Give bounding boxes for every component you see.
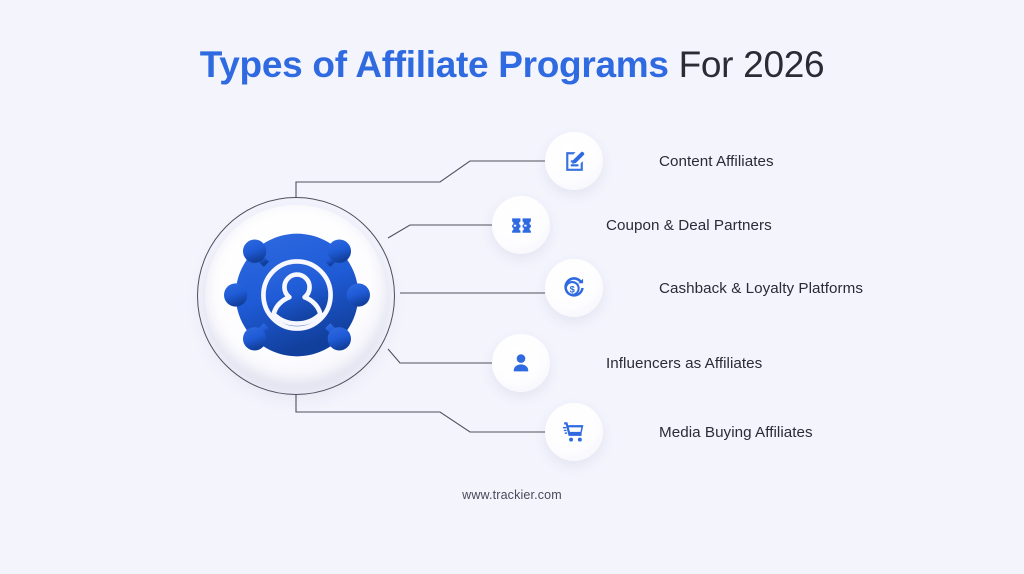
svg-text:$: $ xyxy=(570,284,576,294)
shopping-cart-icon xyxy=(545,403,603,461)
list-item[interactable]: Coupon & Deal Partners xyxy=(492,193,772,257)
user-person-icon xyxy=(492,334,550,392)
affiliate-network-icon xyxy=(224,222,370,368)
list-item[interactable]: $ Cashback & Loyalty Platforms xyxy=(545,256,863,320)
infographic-canvas: Types of Affiliate Programs For 2026 xyxy=(0,0,1024,574)
list-item-label: Coupon & Deal Partners xyxy=(606,217,772,234)
list-item-label: Media Buying Affiliates xyxy=(659,424,813,441)
cashback-dollar-refresh-icon: $ xyxy=(545,259,603,317)
list-item-label: Content Affiliates xyxy=(659,153,774,170)
footer-url: www.trackier.com xyxy=(0,488,1024,502)
list-item[interactable]: Influencers as Affiliates xyxy=(492,331,762,395)
list-item-label: Cashback & Loyalty Platforms xyxy=(659,280,863,297)
coupon-ticket-icon xyxy=(492,196,550,254)
document-pencil-icon xyxy=(545,132,603,190)
list-item[interactable]: Content Affiliates xyxy=(545,129,774,193)
list-item-label: Influencers as Affiliates xyxy=(606,355,762,372)
list-item[interactable]: Media Buying Affiliates xyxy=(545,400,813,464)
connector-line-1 xyxy=(296,161,545,197)
connector-line-5 xyxy=(296,395,545,432)
connector-line-4 xyxy=(388,349,492,363)
connector-line-2 xyxy=(388,225,492,238)
